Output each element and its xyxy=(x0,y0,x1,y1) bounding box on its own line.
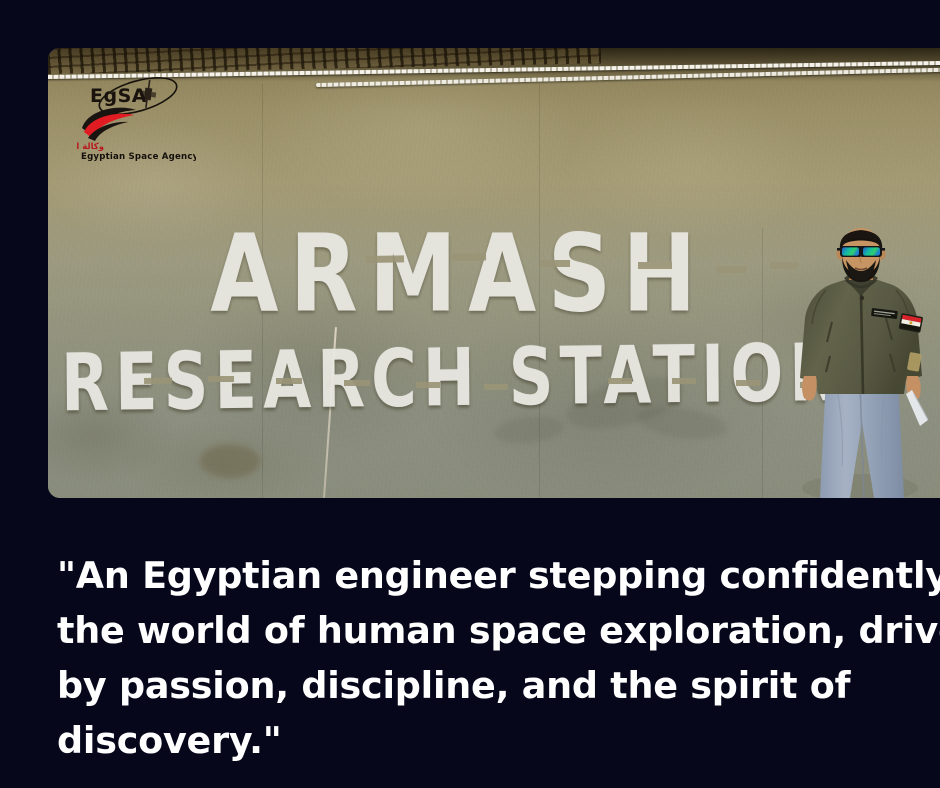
caption-quote: "An Egyptian engineer stepping confident… xyxy=(57,548,937,768)
egyptian-space-agency-logo: EgSA وكالة الفضاء المصرية Egyptian Space… xyxy=(76,66,196,162)
wall-stain xyxy=(200,444,260,478)
caption-line-3: by passion, discipline, and the spirit o… xyxy=(57,658,937,713)
left-hand xyxy=(802,376,817,401)
svg-text:EgSA: EgSA xyxy=(90,85,147,107)
caption-line-1: "An Egyptian engineer stepping confident… xyxy=(57,548,937,603)
svg-text:وكالة الفضاء المصرية: وكالة الفضاء المصرية xyxy=(76,142,104,152)
sunglasses-icon xyxy=(837,246,885,257)
svg-text:Egyptian Space Agency: Egyptian Space Agency xyxy=(81,152,196,162)
caption-line-2: the world of human space exploration, dr… xyxy=(57,603,937,658)
standing-engineer xyxy=(786,226,936,498)
caption-line-4: discovery." xyxy=(57,713,937,768)
slide-card: EgSA وكالة الفضاء المصرية Egyptian Space… xyxy=(0,0,940,788)
hero-photo: EgSA وكالة الفضاء المصرية Egyptian Space… xyxy=(48,48,940,498)
